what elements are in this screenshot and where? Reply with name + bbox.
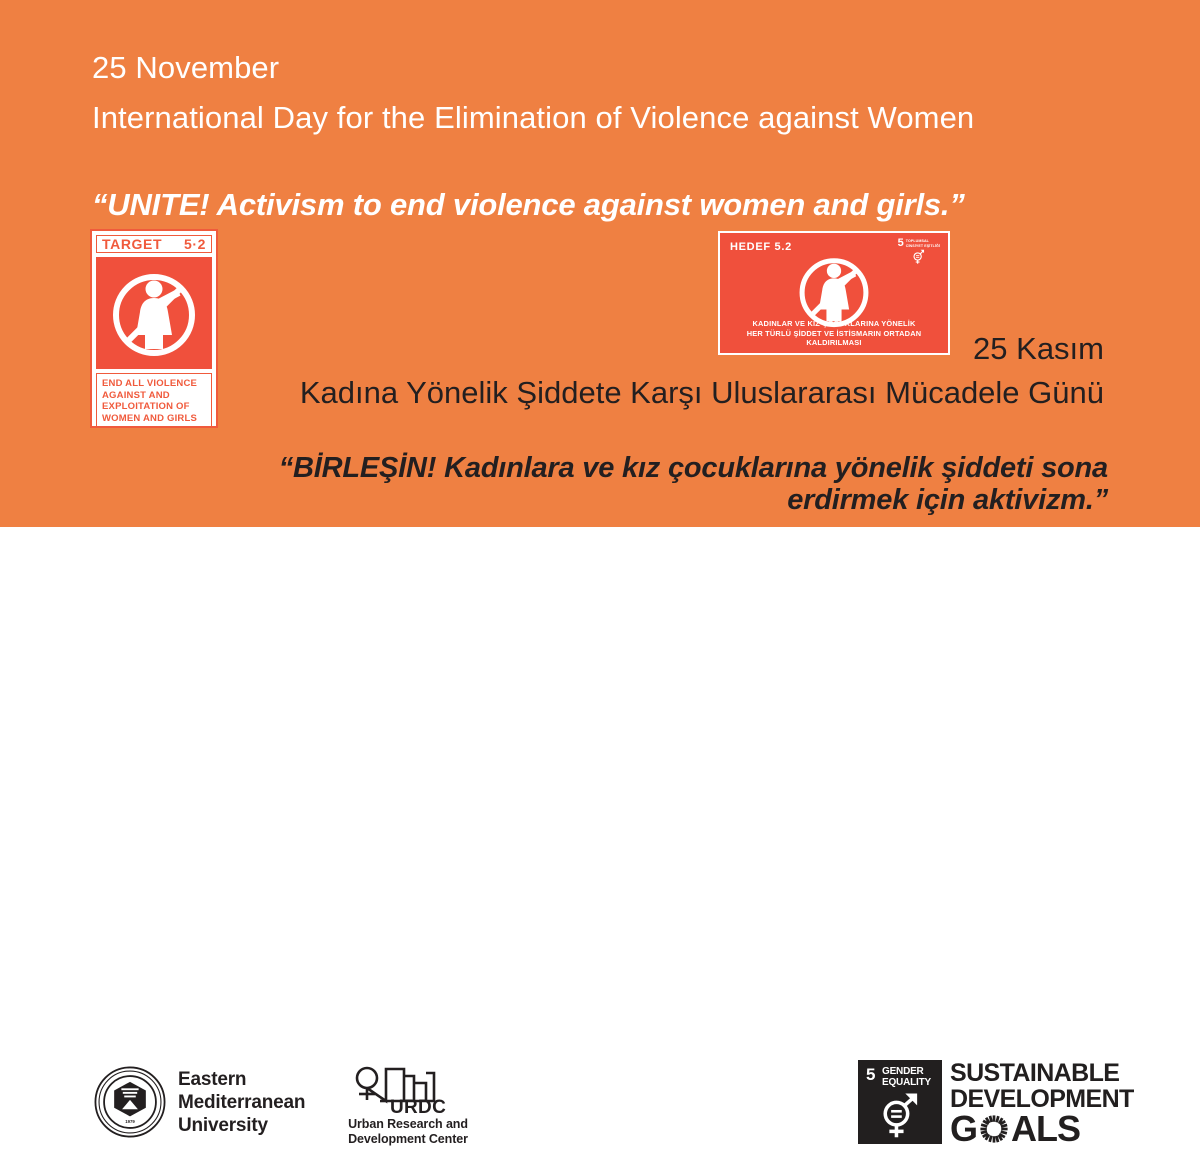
target-caption-line: EXPLOITATION OF [102,401,206,413]
turkish-quote: “BİRLEŞİN! Kadınlara ve kız çocuklarına … [140,452,1108,516]
english-date: 25 November [92,48,279,88]
sdg-goals-suffix: ALS [1011,1112,1080,1146]
sdg-target-card-english: TARGET 5·2 END ALL VIOLENCE AGAINST AND … [90,229,218,428]
target-caption-line: WOMEN AND GIRLS [102,413,206,425]
turkish-date: 25 Kasım [973,330,1104,368]
urdc-name-line: Development Center [334,1132,482,1147]
sdg-goal-words: GENDER EQUALITY [882,1066,931,1088]
sdg-color-wheel-icon [978,1113,1010,1145]
urdc-name-line: Urban Research and [334,1117,482,1132]
target-caption-line: END ALL VIOLENCE [102,378,206,390]
emu-seal-year: 1979 [125,1119,135,1124]
turkish-quote-line1: “BİRLEŞİN! Kadınlara ve kız çocuklarına … [140,452,1108,484]
sdg-goals-line: G [950,1112,1134,1146]
emu-name: Eastern Mediterranean University [178,1068,305,1137]
turkish-title: Kadına Yönelik Şiddete Karşı Uluslararas… [300,374,1104,412]
target-card-caption: END ALL VIOLENCE AGAINST AND EXPLOITATIO… [96,373,212,427]
hedef-caption-line: KADINLAR VE KIZ ÇOCUKLARINA YÖNELİK [724,319,944,329]
hedef-goal-words: TOPLUMSAL CİNSİYET EŞİTLİĞİ [906,239,940,248]
urdc-name: Urban Research and Development Center [334,1117,482,1147]
hedef-goal-word-line: TOPLUMSAL [906,239,929,243]
english-title: International Day for the Elimination of… [92,98,974,138]
sdg-goals-prefix: G [950,1112,977,1146]
target-card-artwork [96,257,212,369]
sdg-goal-word-line: GENDER [882,1066,931,1077]
target-caption-line: AGAINST AND [102,390,206,402]
turkish-quote-line2: erdirmek için aktivizm.” [140,484,1108,516]
sdg-goal-word-line: EQUALITY [882,1077,931,1088]
urdc-abbreviation: URDC [390,1097,446,1119]
emu-name-line: Mediterranean [178,1091,305,1114]
sdg-wordmark: SUSTAINABLE DEVELOPMENT G [950,1060,1134,1146]
sdg-goal5-tile: 5 GENDER EQUALITY [858,1060,942,1144]
hedef-card-caption: KADINLAR VE KIZ ÇOCUKLARINA YÖNELİK HER … [724,319,944,348]
hedef-goal-word-line: CİNSİYET EŞİTLİĞİ [906,244,940,248]
no-violence-against-women-icon [104,263,204,363]
hedef-caption-line: HER TÜRLÜ ŞİDDET VE İSTİSMARIN ORTADAN K… [724,329,944,348]
sdg-word-line: SUSTAINABLE [950,1060,1134,1086]
english-quote: “UNITE! Activism to end violence against… [92,186,965,224]
emu-name-line: Eastern [178,1068,305,1091]
target-card-number: 5·2 [184,236,206,252]
target-card-label: TARGET [102,236,162,252]
target-card-header: TARGET 5·2 [96,235,212,253]
gender-equality-icon [874,1090,926,1142]
sdg-word-line: DEVELOPMENT [950,1086,1134,1112]
sdg-goal-icon-wrap [858,1090,942,1142]
emu-seal-icon: 1979 [94,1066,166,1138]
emu-name-line: University [178,1114,305,1137]
sdg-target-card-turkish: HEDEF 5.2 5 TOPLUMSAL CİNSİYET EŞİTLİĞİ [718,231,950,355]
poster-canvas: 25 November International Day for the El… [0,0,1200,660]
sdg-logo: 5 GENDER EQUALITY [858,1060,1134,1146]
footer-band: 1979 Eastern Mediterranean University [0,527,1200,660]
urdc-logo: URDC Urban Research and Development Cent… [334,1063,482,1147]
sdg-goal-number: 5 [866,1066,875,1083]
hedef-goal-number: 5 [898,239,904,248]
emu-logo: 1979 Eastern Mediterranean University [94,1066,305,1138]
